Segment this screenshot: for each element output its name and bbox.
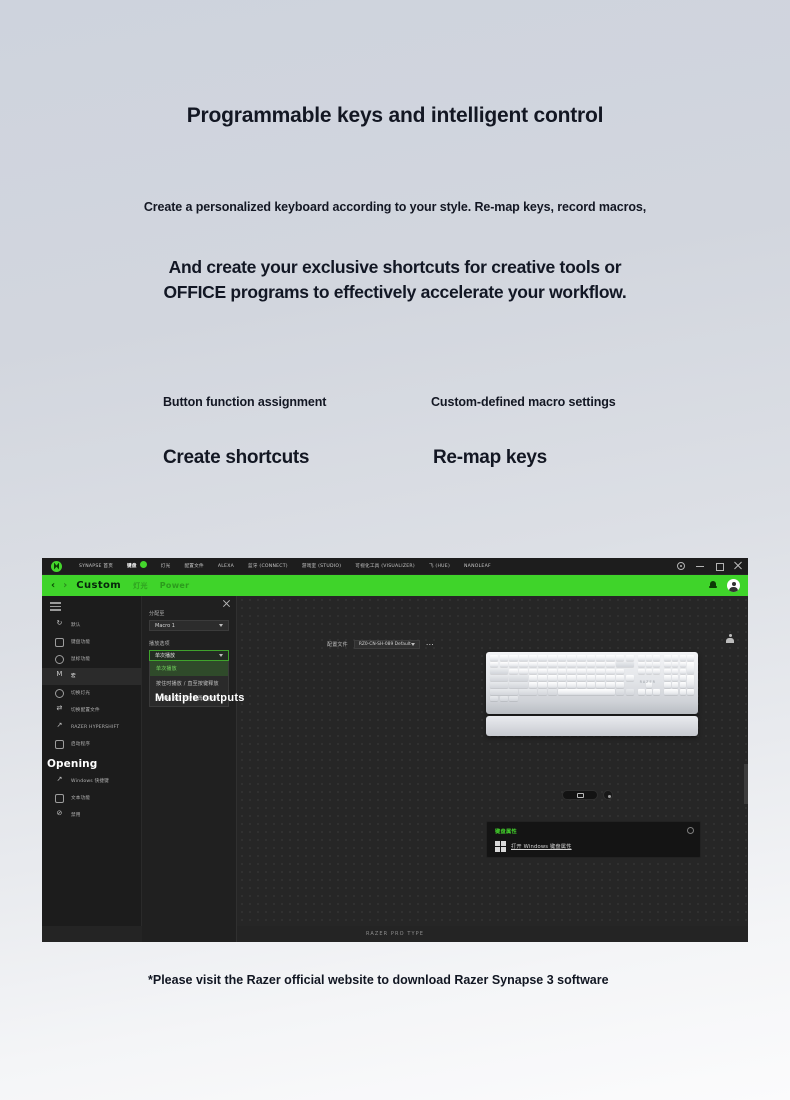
sidebar-item-text-function-label: 文本功能 [71, 795, 90, 801]
tab-lighting[interactable]: 灯光 [133, 581, 148, 591]
sidebar-item-windows-shortcut[interactable]: ↗ Windows 快捷键 [42, 773, 141, 790]
menu-item-lighting[interactable]: 灯光 [154, 558, 178, 575]
hypershift-icon: ↗ [55, 723, 64, 732]
sidebar-item-hypershift-label: RAZER HYPERSHIFT [71, 725, 119, 730]
sidebar-item-keyboard-function[interactable]: 键盘功能 [42, 634, 141, 651]
profile-selector-bar: 配置文件 RZ0-CN-SH-089 Default ⋯ [327, 632, 435, 649]
promo-subheading: Create a personalized keyboard according… [0, 200, 790, 214]
playback-option-value: 单次播放 [155, 652, 175, 659]
keyboard-icon [55, 638, 64, 647]
chevron-left-icon[interactable]: ‹ [47, 580, 59, 591]
bell-icon[interactable] [709, 581, 717, 590]
windows-logo-icon [495, 841, 506, 852]
keyboard-badge-icon [140, 561, 147, 568]
user-avatar-icon[interactable] [727, 579, 740, 592]
menu-item-keyboard[interactable]: 键盘 [120, 558, 154, 575]
sidebar-item-launch-program[interactable]: 启动程序 [42, 736, 141, 753]
feature-1-caption: Button function assignment [163, 395, 431, 409]
menu-item-hue[interactable]: 飞 (HUE) [422, 558, 457, 575]
chevron-down-icon [219, 624, 223, 627]
mouse-icon [55, 655, 64, 664]
refresh-icon: ↻ [55, 621, 64, 630]
keyboard-main-zone [490, 655, 634, 711]
launch-app-icon [55, 740, 64, 749]
sidebar-item-default[interactable]: ↻ 默认 [42, 617, 141, 634]
sidebar-item-disable[interactable]: ⊘ 禁用 [42, 807, 141, 824]
device-brand-mark: RAZER [640, 680, 656, 684]
gear-icon[interactable] [687, 827, 694, 834]
multiple-outputs-annotation: Multiple outputs [155, 692, 245, 704]
account-icon[interactable] [726, 634, 734, 643]
disable-icon: ⊘ [55, 811, 64, 820]
feature-big-row: Create shortcuts Re-map keys [163, 447, 547, 469]
wrist-rest [486, 716, 698, 736]
menu-item-alexa[interactable]: ALEXA [211, 558, 241, 575]
sidebar-item-windows-shortcut-label: Windows 快捷键 [71, 778, 109, 784]
keyboard-numpad-zone [664, 655, 694, 711]
app-body: ↻ 默认 键盘功能 鼠标功能 M 宏 切换灯光 ⇄ 切换配置文件 [42, 596, 748, 942]
sidebar-item-macro-label: 宏 [71, 673, 76, 679]
menu-item-synapse-home[interactable]: SYNAPSE 首页 [72, 558, 120, 575]
promo-body: And create your exclusive shortcuts for … [0, 255, 790, 305]
menu-item-keyboard-label: 键盘 [127, 564, 137, 569]
menu-item-studio[interactable]: 游戏室 (STUDIO) [295, 558, 348, 575]
keyboard-properties-title: 键盘属性 [495, 828, 692, 835]
profile-select[interactable]: RZ0-CN-SH-089 Default [354, 640, 420, 649]
keyboard-illustration: RAZER [486, 652, 698, 736]
settings-icon[interactable] [677, 562, 685, 570]
playback-option-label: 播放选项 [149, 640, 229, 647]
keyboard-view-toolbar [562, 790, 613, 800]
app-green-toolbar: ‹ › Custom 灯光 Power [42, 575, 748, 596]
current-profile-title: Custom [76, 580, 121, 591]
sidebar-item-switch-profile-label: 切换配置文件 [71, 707, 100, 713]
chevron-down-icon [219, 654, 223, 657]
close-icon[interactable] [734, 562, 742, 570]
keyboard-glyph-icon [577, 793, 584, 798]
stage-scrollbar[interactable] [744, 764, 748, 804]
playback-option-item[interactable]: 单次播放 [150, 661, 228, 676]
keyboard-view-icon[interactable] [562, 790, 598, 800]
sidebar-item-launch-program-label: 启动程序 [71, 741, 90, 747]
playback-option-select[interactable]: 单次播放 [149, 650, 229, 661]
sidebar-item-switch-lighting[interactable]: 切换灯光 [42, 685, 141, 702]
profile-switch-icon: ⇄ [55, 706, 64, 715]
sidebar-item-keyboard-function-label: 键盘功能 [71, 639, 90, 645]
sidebar-section-opening: Opening [42, 753, 141, 773]
page-title: Programmable keys and intelligent contro… [0, 104, 790, 128]
sidebar-item-switch-lighting-label: 切换灯光 [71, 690, 90, 696]
more-options-icon[interactable]: ⋯ [426, 642, 435, 648]
green-toolbar-actions [709, 579, 748, 592]
keyboard-settings-icon[interactable] [603, 790, 613, 800]
close-icon[interactable] [223, 600, 230, 607]
macro-icon: M [55, 672, 64, 681]
keyboard-body [486, 652, 698, 714]
feature-2-title: Re-map keys [433, 447, 547, 469]
macro-assignment-panel: 分配至 Macro 1 播放选项 单次播放 单次播放 按住时播放 / 直至按键释… [142, 596, 237, 942]
assign-to-select[interactable]: Macro 1 [149, 620, 229, 631]
sidebar-item-mouse-function-label: 鼠标功能 [71, 656, 90, 662]
chevron-right-icon[interactable]: › [59, 580, 71, 591]
profile-select-value: RZ0-CN-SH-089 Default [359, 642, 411, 647]
tab-power[interactable]: Power [160, 581, 190, 590]
menu-item-connect[interactable]: 蓝牙 (CONNECT) [241, 558, 295, 575]
razer-synapse-window: SYNAPSE 首页 键盘 灯光 配置文件 ALEXA 蓝牙 (CONNECT)… [42, 558, 748, 942]
sidebar-item-macro[interactable]: M 宏 [42, 668, 141, 685]
sidebar: ↻ 默认 键盘功能 鼠标功能 M 宏 切换灯光 ⇄ 切换配置文件 [42, 596, 142, 942]
app-titlebar: SYNAPSE 首页 键盘 灯光 配置文件 ALEXA 蓝牙 (CONNECT)… [42, 558, 748, 575]
sidebar-item-disable-label: 禁用 [71, 812, 81, 818]
sidebar-item-default-label: 默认 [71, 622, 81, 628]
assign-to-label: 分配至 [149, 610, 229, 617]
minimize-icon[interactable] [696, 562, 704, 570]
hamburger-icon[interactable] [50, 602, 61, 611]
playback-option-item[interactable]: 按住时播放 / 直至按键释放 [150, 676, 228, 691]
sidebar-item-mouse-function[interactable]: 鼠标功能 [42, 651, 141, 668]
sidebar-item-switch-profile[interactable]: ⇄ 切换配置文件 [42, 702, 141, 719]
menu-item-visualizer[interactable]: 可视化工具 (VISUALIZER) [348, 558, 422, 575]
windows-shortcut-icon: ↗ [55, 777, 64, 786]
sidebar-item-hypershift[interactable]: ↗ RAZER HYPERSHIFT [42, 719, 141, 736]
promo-body-line-1: And create your exclusive shortcuts for … [0, 255, 790, 280]
keyboard-properties-card: 键盘属性 打开 Windows 键盘属性 [486, 821, 701, 858]
assign-to-value: Macro 1 [155, 623, 175, 629]
footnote: *Please visit the Razer official website… [148, 971, 708, 989]
maximize-icon[interactable] [715, 562, 723, 570]
lighting-icon [55, 689, 64, 698]
sidebar-item-text-function[interactable]: 文本功能 [42, 790, 141, 807]
window-controls [677, 562, 748, 570]
feature-small-row: Button function assignment Custom-define… [163, 395, 616, 409]
text-function-icon [55, 794, 64, 803]
promo-body-line-2: OFFICE programs to effectively accelerat… [0, 280, 790, 305]
feature-1-title: Create shortcuts [163, 447, 433, 469]
chevron-down-icon [411, 643, 415, 646]
feature-2-caption: Custom-defined macro settings [431, 395, 616, 409]
device-name: RAZER PRO TYPE [366, 931, 424, 937]
menu-item-profiles[interactable]: 配置文件 [177, 558, 210, 575]
razer-logo-icon [51, 561, 62, 572]
menu-item-nanoleaf[interactable]: NANOLEAF [457, 558, 498, 575]
profile-label: 配置文件 [327, 641, 348, 648]
open-windows-keyboard-properties-link[interactable]: 打开 Windows 键盘属性 [511, 843, 572, 850]
keyboard-properties-link-row[interactable]: 打开 Windows 键盘属性 [495, 841, 692, 852]
